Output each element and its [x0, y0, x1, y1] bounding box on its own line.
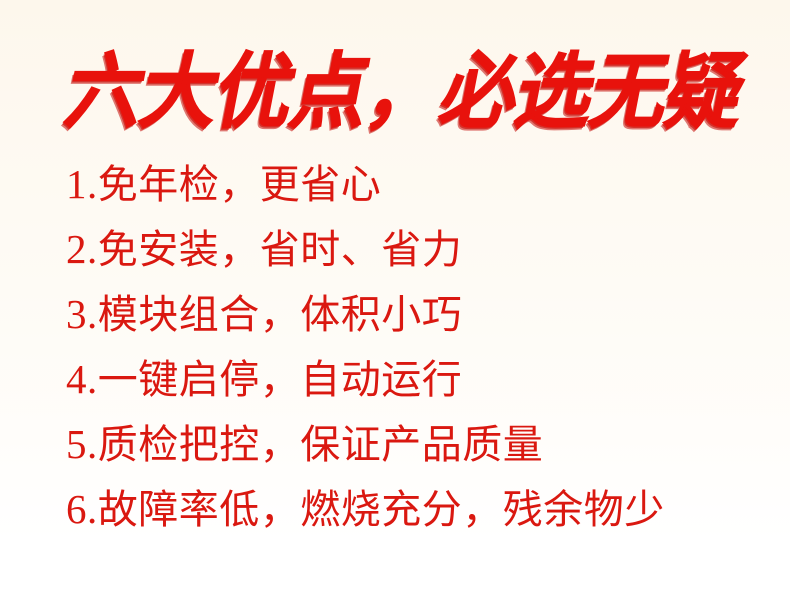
benefit-text: 质检把控，保证产品质量: [98, 422, 544, 468]
benefit-text: 模块组合，体积小巧: [98, 292, 463, 338]
benefit-index: 2.: [66, 226, 98, 272]
promo-poster: 六大优点，必选无疑 1.免年检，更省心 2.免安装，省时、省力 3.模块组合，体…: [0, 0, 790, 601]
headline-text: 六大优点，必选无疑: [60, 51, 751, 133]
benefit-text: 故障率低，燃烧充分，残余物少: [98, 487, 665, 533]
benefit-index: 6.: [66, 486, 98, 532]
benefit-text: 免安装，省时、省力: [98, 227, 463, 273]
benefit-index: 1.: [66, 161, 98, 207]
benefit-text: 一键启停，自动运行: [98, 357, 463, 403]
benefit-list-item: 4.一键启停，自动运行: [66, 347, 766, 412]
benefit-index: 4.: [66, 356, 98, 402]
benefit-list-item: 6.故障率低，燃烧充分，残余物少: [66, 477, 766, 542]
benefit-list-item: 5.质检把控，保证产品质量: [66, 412, 766, 477]
benefit-list: 1.免年检，更省心 2.免安装，省时、省力 3.模块组合，体积小巧 4.一键启停…: [66, 152, 766, 542]
poster-headline: 六大优点，必选无疑: [68, 44, 768, 140]
benefit-list-item: 3.模块组合，体积小巧: [66, 282, 766, 347]
benefit-text: 免年检，更省心: [98, 162, 382, 208]
benefit-list-item: 1.免年检，更省心: [66, 152, 766, 217]
benefit-list-item: 2.免安装，省时、省力: [66, 217, 766, 282]
benefit-index: 3.: [66, 291, 98, 337]
benefit-index: 5.: [66, 421, 98, 467]
